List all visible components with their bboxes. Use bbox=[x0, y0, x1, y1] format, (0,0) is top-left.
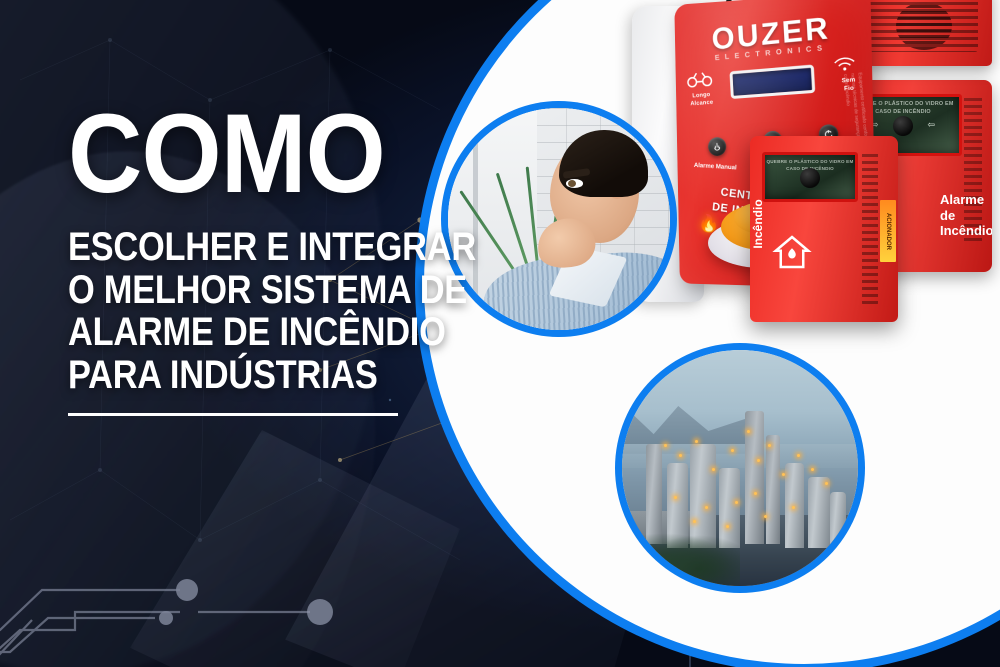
headline-block: COMO ESCOLHER E INTEGRAR O MELHOR SISTEM… bbox=[68, 108, 498, 416]
page-title: COMO bbox=[68, 108, 464, 200]
subheadline-line-4: PARA INDÚSTRIAS bbox=[68, 354, 438, 397]
break-glass-window-front: QUEBRE O PLÁSTICO DO VIDRO EM CASO DE IN… bbox=[762, 152, 858, 202]
circuit-trace-bottom-left bbox=[0, 500, 400, 667]
call-point-knob-front bbox=[800, 168, 820, 188]
headline-underline bbox=[68, 413, 398, 416]
silo bbox=[830, 492, 847, 549]
call-point-knob bbox=[893, 116, 913, 136]
subheadline-line-3: ALARME DE INCÊNDIO bbox=[68, 311, 438, 354]
subheadline-line-2: O MELHOR SISTEMA DE bbox=[68, 269, 438, 312]
acionador-sticker: ACIONADOR bbox=[880, 200, 896, 262]
binoculars-icon: Longo Alcance bbox=[686, 70, 716, 108]
subheadline-line-1: ESCOLHER E INTEGRAR bbox=[68, 226, 438, 269]
arrow-left-icon: ⇦ bbox=[927, 120, 935, 131]
speaker-cone bbox=[896, 2, 952, 50]
treeline bbox=[631, 529, 740, 586]
call-point-back-label: Alarme de Incêndio bbox=[940, 192, 992, 239]
vent-slots-front bbox=[862, 150, 878, 306]
fire-house-icon bbox=[772, 232, 812, 272]
lcd-display bbox=[729, 65, 815, 99]
long-range-label: Longo Alcance bbox=[687, 92, 716, 109]
alarme-manual-button[interactable] bbox=[708, 137, 727, 157]
manual-call-point-front: QUEBRE O PLÁSTICO DO VIDRO EM CASO DE IN… bbox=[750, 136, 898, 322]
call-point-front-label: Incêndio bbox=[751, 181, 765, 267]
banner-canvas: QUEBRE O PLÁSTICO DO VIDRO EM CASO DE IN… bbox=[0, 0, 1000, 667]
steel-tower bbox=[766, 435, 780, 544]
subheadline: ESCOLHER E INTEGRAR O MELHOR SISTEMA DE … bbox=[68, 226, 438, 397]
industrial-plant-photo bbox=[622, 350, 858, 586]
silo bbox=[808, 477, 829, 548]
